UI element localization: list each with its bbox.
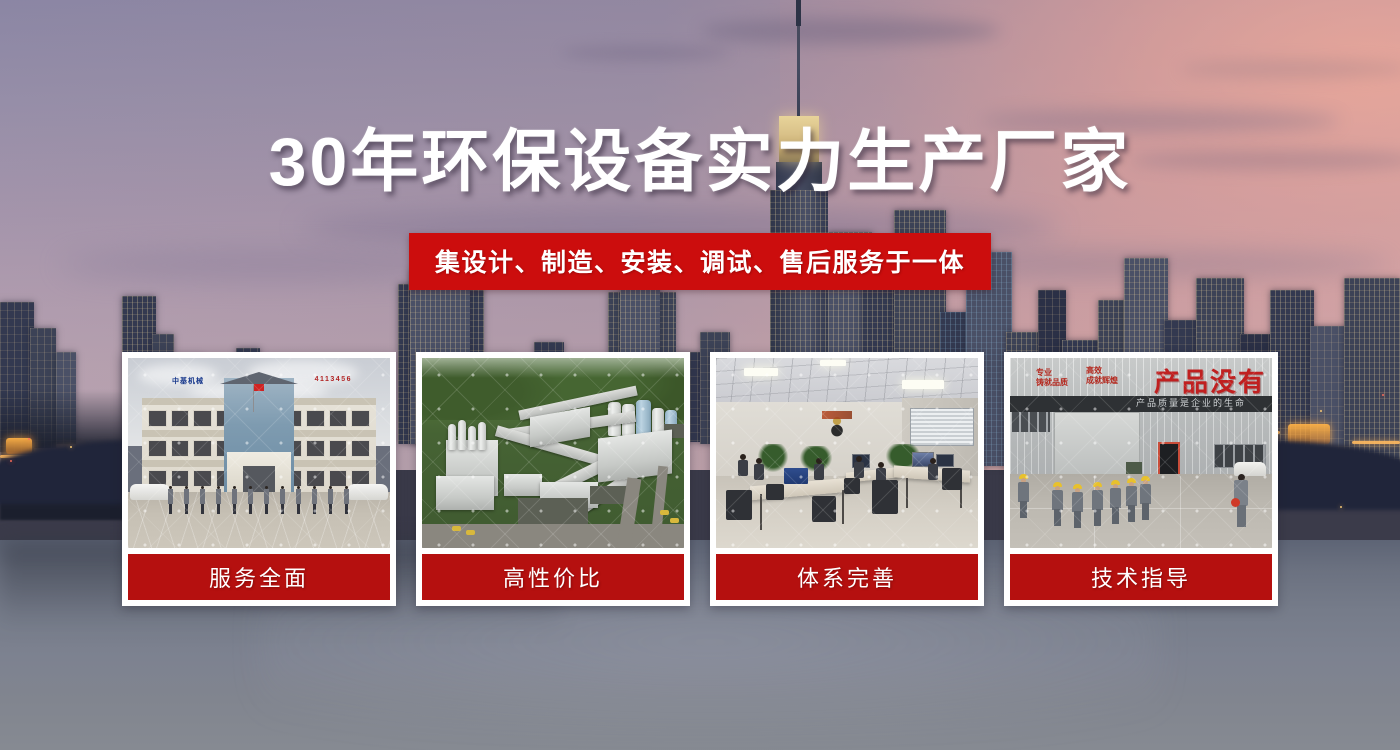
card-label-service: 服务全面 bbox=[128, 554, 390, 600]
card-label-system: 体系完善 bbox=[716, 554, 978, 600]
factory-sign-band: 产品质量是企业的生命 bbox=[1010, 396, 1272, 412]
card-label-text: 体系完善 bbox=[797, 561, 897, 593]
company-phone-text: 4113456 bbox=[315, 376, 352, 383]
feature-card-row: 中基机械 4113456 服务全面 bbox=[122, 352, 1278, 606]
card-label-text: 服务全面 bbox=[209, 561, 309, 593]
factory-slogan-left: 专业铸就品质 bbox=[1036, 368, 1068, 388]
feature-card-system[interactable]: 体系完善 bbox=[710, 352, 984, 606]
flag-icon bbox=[254, 384, 264, 391]
card-label-text: 技术指导 bbox=[1091, 561, 1191, 593]
card-label-text: 高性价比 bbox=[503, 561, 603, 593]
office-interior-photo bbox=[716, 358, 978, 548]
wall-logo bbox=[820, 412, 854, 442]
feature-card-value[interactable]: 高性价比 bbox=[416, 352, 690, 606]
banner-headline: 30年环保设备实力生产厂家 bbox=[0, 128, 1400, 196]
factory-door bbox=[1158, 442, 1180, 476]
hero-banner: 30年环保设备实力生产厂家 集设计、制造、安装、调试、售后服务于一体 bbox=[0, 0, 1400, 750]
banner-subtitle-bar: 集设计、制造、安装、调试、售后服务于一体 bbox=[409, 233, 991, 290]
technical-training-photo: 专业铸就品质 高效成就辉煌 产品没有 产品质量是企业的生命 bbox=[1010, 358, 1272, 548]
card-label-value: 高性价比 bbox=[422, 554, 684, 600]
company-sign-text: 中基机械 bbox=[172, 376, 204, 386]
feature-card-training[interactable]: 专业铸就品质 高效成就辉煌 产品没有 产品质量是企业的生命 bbox=[1004, 352, 1278, 606]
banner-subtitle: 集设计、制造、安装、调试、售后服务于一体 bbox=[435, 249, 965, 277]
feature-card-service[interactable]: 中基机械 4113456 服务全面 bbox=[122, 352, 396, 606]
company-headquarters-photo: 中基机械 4113456 bbox=[128, 358, 390, 548]
card-label-training: 技术指导 bbox=[1010, 554, 1272, 600]
factory-slogan-right: 高效成就辉煌 bbox=[1086, 366, 1118, 386]
production-plant-aerial-photo bbox=[422, 358, 684, 548]
factory-sign-main: 产品没有 bbox=[1154, 362, 1266, 399]
